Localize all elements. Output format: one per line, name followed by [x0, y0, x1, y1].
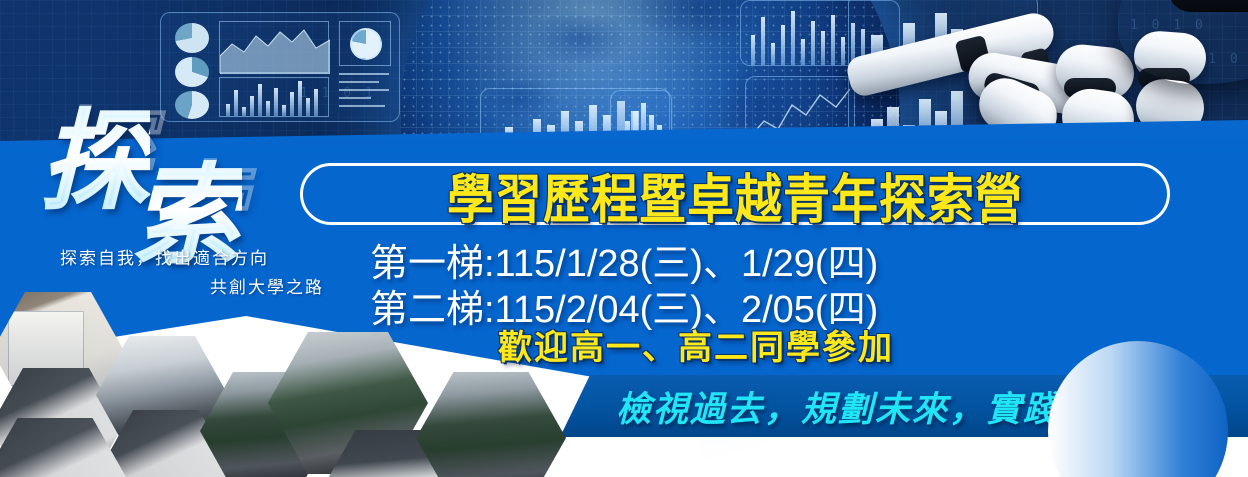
area-chart-svg	[220, 22, 330, 74]
pie-chart-icon	[175, 23, 209, 53]
tagline-line-2: 共創大學之路	[210, 273, 324, 298]
pie-chart-icon	[175, 91, 209, 119]
area-chart-frame	[219, 21, 329, 73]
main-title-pill: 學習歷程暨卓越青年探索營	[300, 163, 1170, 225]
main-title-text: 學習歷程暨卓越青年探索營	[447, 155, 1023, 232]
tagline-line-1: 探索自我，找出適合方向	[60, 244, 269, 269]
robot-palm	[1118, 0, 1248, 84]
event-banner: 1 0 1 0 0 1 1 0 1 1 0 1 0 0 1 0 1 0 1 0 …	[0, 0, 1248, 477]
welcome-notice: 歡迎高一、高二同學參加	[498, 320, 894, 369]
bar-chart-frame	[219, 77, 329, 117]
radar-chart-frame	[339, 21, 391, 66]
pie-chart-icon	[175, 57, 209, 87]
dashboard-hud-panel	[160, 12, 400, 122]
